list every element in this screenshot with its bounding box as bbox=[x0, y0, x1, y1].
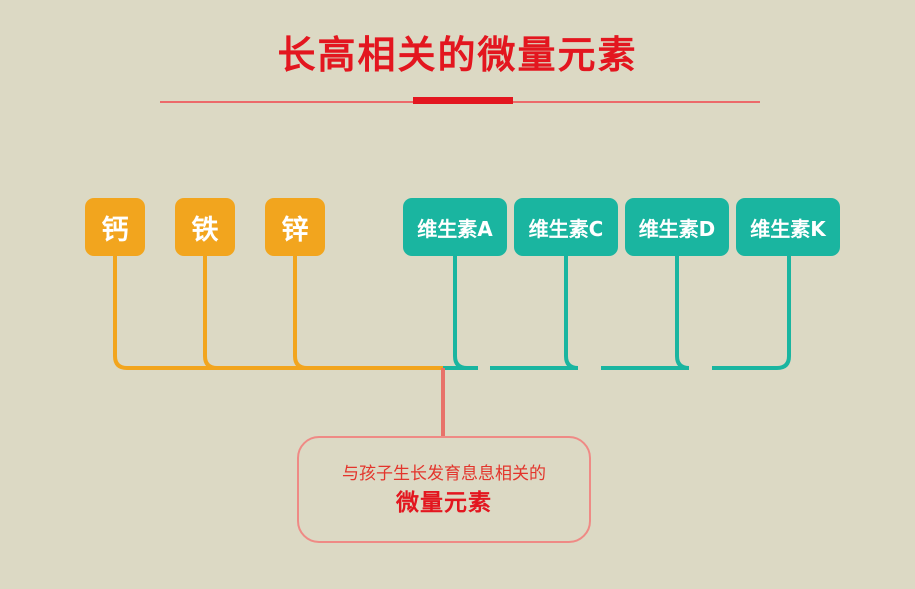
summary-line-2: 微量元素 bbox=[396, 487, 492, 519]
page-title: 长高相关的微量元素 bbox=[0, 32, 915, 78]
node-label: 维生素D bbox=[639, 213, 716, 242]
node-mineral-calcium[interactable]: 钙 bbox=[85, 198, 145, 256]
node-label: 维生素C bbox=[529, 213, 604, 242]
node-vitamin-d[interactable]: 维生素D bbox=[625, 198, 729, 256]
node-mineral-zinc[interactable]: 锌 bbox=[265, 198, 325, 256]
vitamin-connectors bbox=[443, 256, 789, 368]
summary-box: 与孩子生长发育息息相关的 微量元素 bbox=[297, 436, 591, 543]
node-label: 钙 bbox=[102, 208, 129, 247]
node-vitamin-c[interactable]: 维生素C bbox=[514, 198, 618, 256]
node-vitamin-k[interactable]: 维生素K bbox=[736, 198, 840, 256]
node-label: 铁 bbox=[192, 208, 219, 247]
mineral-connectors bbox=[115, 256, 443, 368]
node-vitamin-a[interactable]: 维生素A bbox=[403, 198, 507, 256]
node-label: 维生素K bbox=[750, 213, 826, 242]
title-divider-accent bbox=[413, 97, 513, 104]
summary-line-1: 与孩子生长发育息息相关的 bbox=[342, 461, 546, 487]
node-label: 锌 bbox=[282, 208, 309, 247]
node-mineral-iron[interactable]: 铁 bbox=[175, 198, 235, 256]
infographic-canvas: 长高相关的微量元素 bbox=[0, 0, 915, 589]
node-label: 维生素A bbox=[417, 213, 492, 242]
